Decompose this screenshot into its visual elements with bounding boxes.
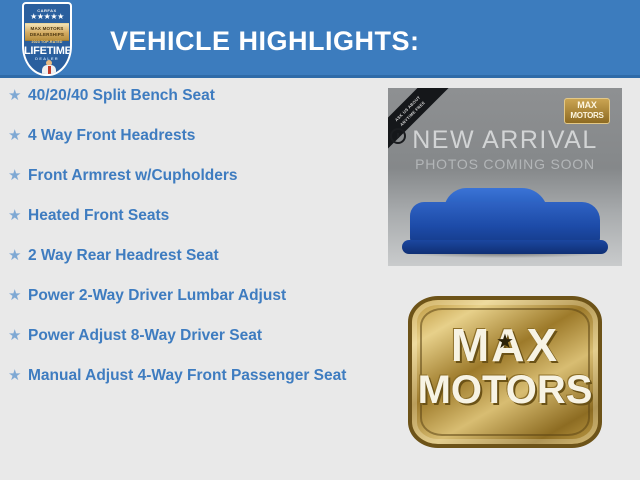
- feature-label: Manual Adjust 4-Way Front Passenger Seat: [28, 366, 380, 386]
- feature-item: ★Power Adjust 8-Way Driver Seat: [0, 326, 380, 346]
- badge-shield-shape: CARFAX ★★★★★ MAX MOTORS DEALERSHIPS 2023…: [22, 2, 72, 76]
- feature-label: Front Armrest w/Cupholders: [28, 166, 380, 186]
- logo-plate-shape: MAX ★ MOTORS: [408, 296, 602, 448]
- vehicle-highlights-slide: CARFAX ★★★★★ MAX MOTORS DEALERSHIPS 2023…: [0, 0, 640, 480]
- badge-ribbon-line1: MAX MOTORS: [25, 26, 69, 31]
- star-bullet-icon: ★: [8, 366, 28, 386]
- feature-label: 2 Way Rear Headrest Seat: [28, 246, 380, 266]
- new-arrival-title: NEW ARRIVAL: [388, 126, 622, 155]
- carfax-lifetime-dealer-badge: CARFAX ★★★★★ MAX MOTORS DEALERSHIPS 2023…: [22, 2, 72, 76]
- feature-item: ★Heated Front Seats: [0, 206, 380, 226]
- badge-person-tie: [48, 66, 51, 75]
- vehicle-photo-placeholder[interactable]: ASK US ABOUT ANYTIME FREE MAX MOTORS NEW…: [388, 88, 622, 266]
- feature-item: ★Front Armrest w/Cupholders: [0, 166, 380, 186]
- photos-coming-soon-subtitle: PHOTOS COMING SOON: [388, 156, 622, 172]
- covered-car-illustration: [402, 184, 608, 254]
- header-band: CARFAX ★★★★★ MAX MOTORS DEALERSHIPS 2023…: [0, 0, 640, 78]
- badge-ribbon-line2: DEALERSHIPS: [25, 32, 69, 37]
- watermark-line2: MOTORS: [565, 111, 609, 121]
- carfax-stars-icon: ★★★★★: [24, 13, 70, 21]
- feature-item: ★2 Way Rear Headrest Seat: [0, 246, 380, 266]
- star-bullet-icon: ★: [8, 206, 28, 226]
- star-bullet-icon: ★: [8, 166, 28, 186]
- feature-label: 40/20/40 Split Bench Seat: [28, 86, 380, 106]
- star-bullet-icon: ★: [8, 326, 28, 346]
- feature-label: Power Adjust 8-Way Driver Seat: [28, 326, 380, 346]
- max-motors-watermark: MAX MOTORS: [564, 98, 610, 124]
- star-bullet-icon: ★: [8, 246, 28, 266]
- feature-item: ★Power 2-Way Driver Lumbar Adjust: [0, 286, 380, 306]
- star-bullet-icon: ★: [8, 86, 28, 106]
- star-bullet-icon: ★: [8, 126, 28, 146]
- max-motors-logo: MAX ★ MOTORS: [408, 296, 602, 448]
- badge-person-icon: [41, 60, 57, 76]
- feature-item: ★Manual Adjust 4-Way Front Passenger Sea…: [0, 366, 380, 386]
- feature-label: Heated Front Seats: [28, 206, 380, 226]
- feature-label: Power 2-Way Driver Lumbar Adjust: [28, 286, 380, 306]
- badge-top-rated-label: 2023 TOP-RATED: [26, 40, 68, 44]
- vehicle-features-list: ★40/20/40 Split Bench Seat★4 Way Front H…: [0, 86, 380, 406]
- logo-star-icon: ★: [496, 332, 514, 352]
- feature-item: ★4 Way Front Headrests: [0, 126, 380, 146]
- watermark-line1: MAX: [565, 100, 609, 111]
- star-bullet-icon: ★: [8, 286, 28, 306]
- car-cover-skirt: [402, 240, 608, 254]
- page-title: VEHICLE HIGHLIGHTS:: [110, 26, 420, 57]
- feature-item: ★40/20/40 Split Bench Seat: [0, 86, 380, 106]
- feature-label: 4 Way Front Headrests: [28, 126, 380, 146]
- badge-ribbon: MAX MOTORS DEALERSHIPS: [25, 23, 69, 41]
- logo-line-motors: MOTORS: [412, 370, 598, 410]
